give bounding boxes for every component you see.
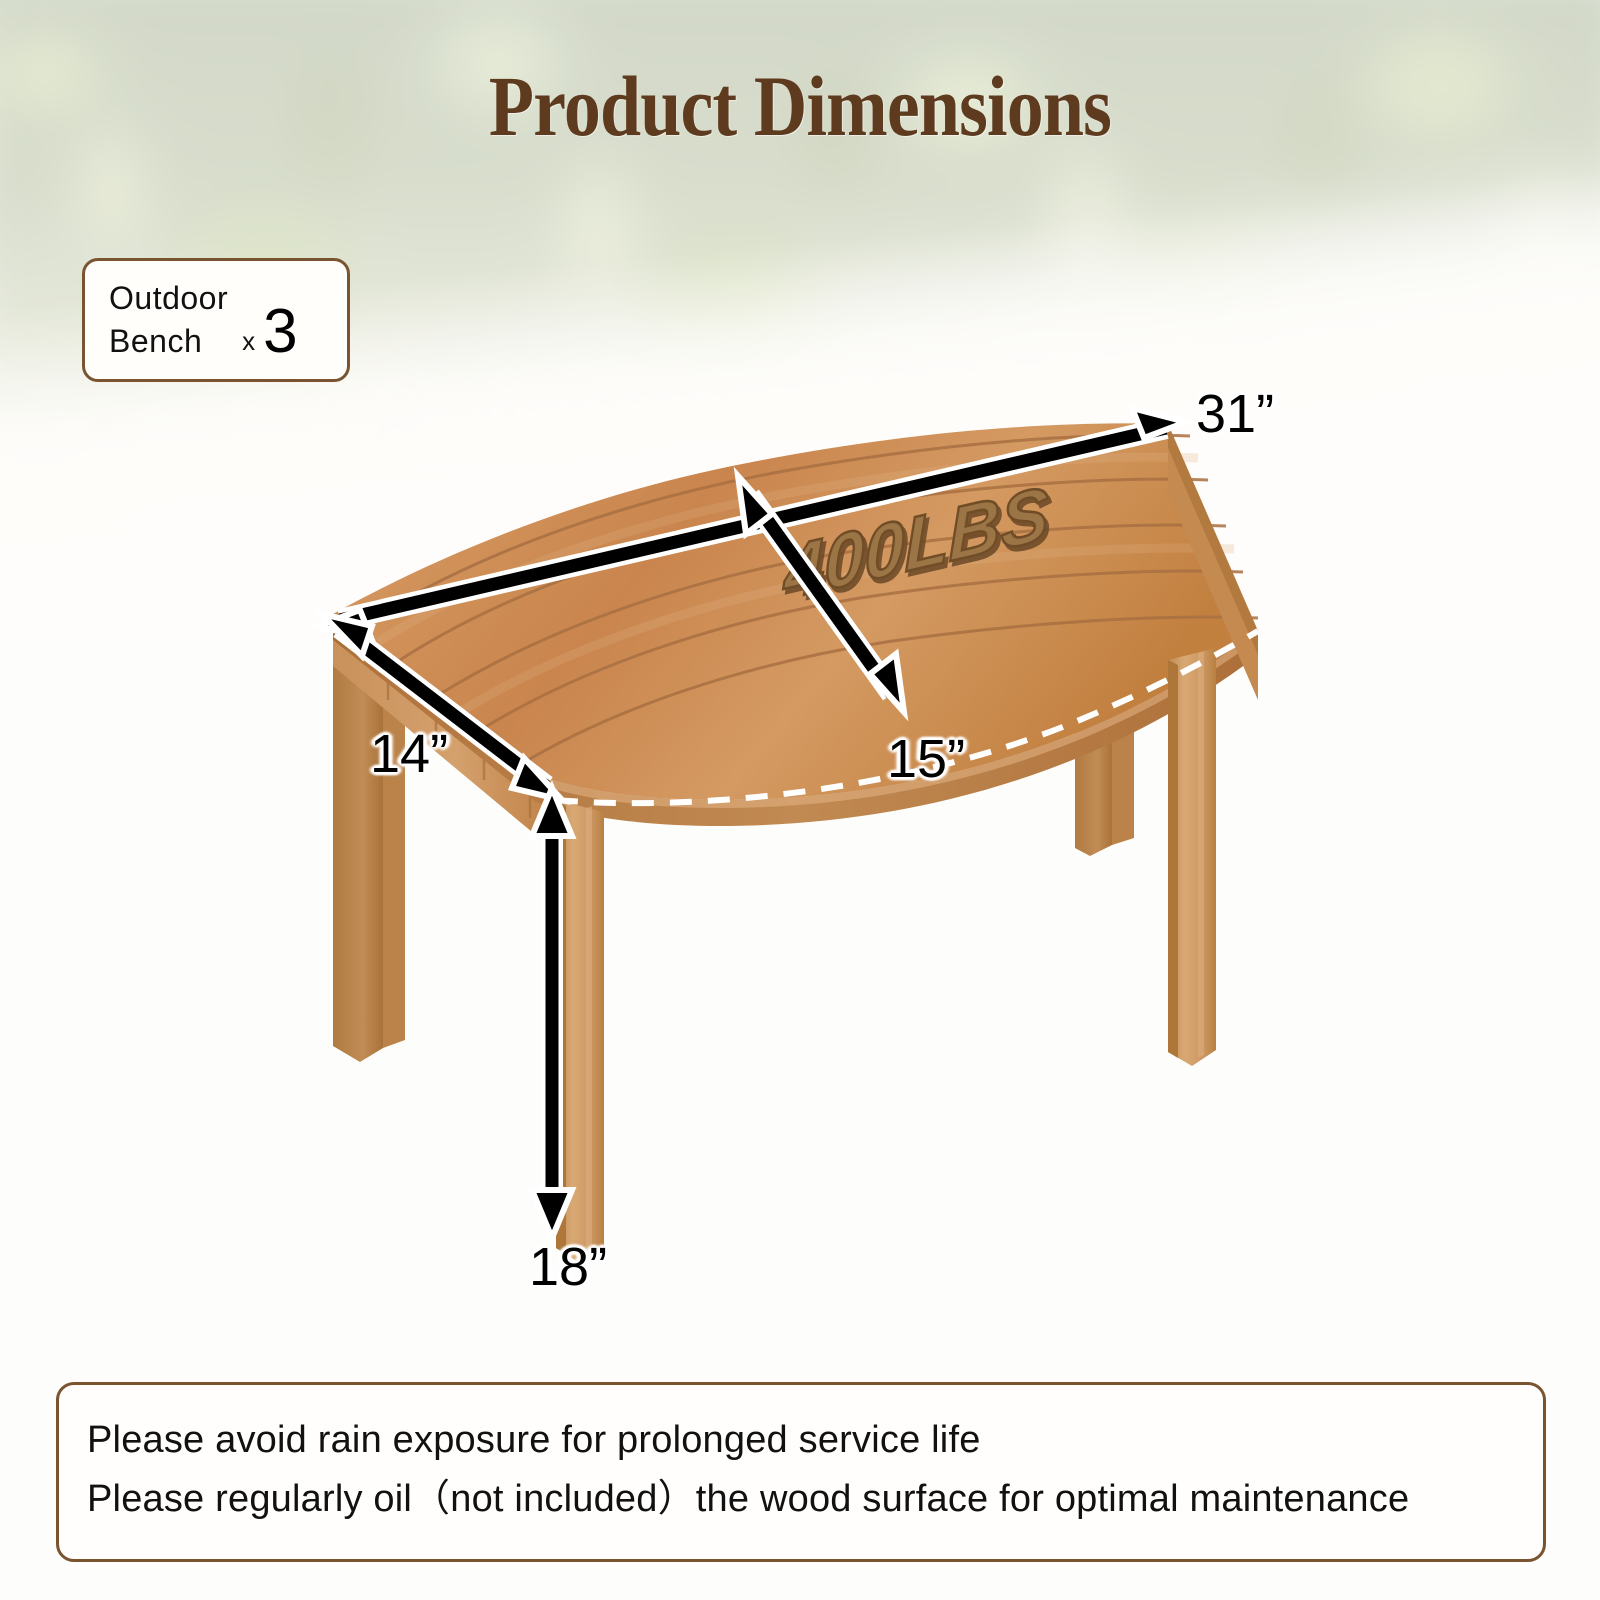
care-note-line-1: Please avoid rain exposure for prolonged…: [87, 1411, 1515, 1470]
care-notes-box: Please avoid rain exposure for prolonged…: [56, 1382, 1546, 1562]
bench-illustration: 400LBS: [0, 0, 1600, 1600]
dimension-label-18: 18”: [529, 1236, 607, 1298]
dimension-label-14: 14”: [370, 723, 448, 785]
care-note-line-2: Please regularly oil（not included）the wo…: [87, 1470, 1515, 1529]
product-dimensions-infographic: Product Dimensions Outdoor Bench x 3: [0, 0, 1600, 1600]
dimension-label-31: 31”: [1196, 383, 1274, 445]
dimension-label-15: 15”: [887, 728, 965, 790]
bench-leg-front-right: [1168, 648, 1216, 1066]
